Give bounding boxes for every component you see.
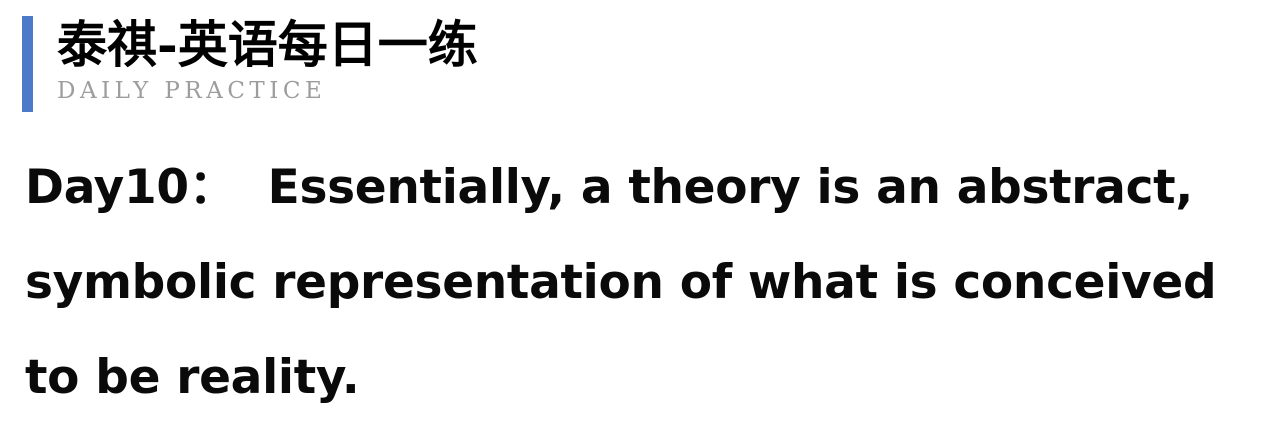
passage-line-3: to be reality.	[25, 330, 1215, 425]
header: 泰祺-英语每日一练 DAILY PRACTICE	[22, 16, 478, 112]
page-title: 泰祺-英语每日一练	[57, 16, 478, 74]
passage-body: Day10： Essentially, a theory is an abstr…	[25, 140, 1215, 425]
accent-bar	[22, 16, 33, 112]
passage-line-2: symbolic representation of what is conce…	[25, 235, 1215, 330]
header-text-group: 泰祺-英语每日一练 DAILY PRACTICE	[57, 16, 478, 112]
passage-line-1: Day10： Essentially, a theory is an abstr…	[25, 140, 1215, 235]
page-subtitle: DAILY PRACTICE	[57, 76, 478, 106]
daily-practice-card: 泰祺-英语每日一练 DAILY PRACTICE Day10： Essentia…	[0, 0, 1280, 432]
